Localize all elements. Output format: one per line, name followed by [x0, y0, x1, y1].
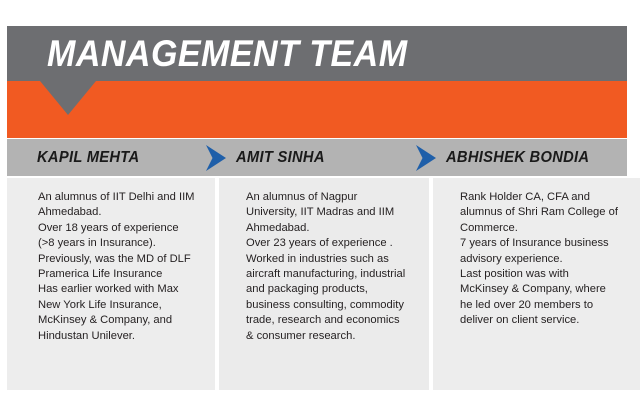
member-names-band: KAPIL MEHTA AMIT SINHA ABHISHEK BONDIA: [7, 139, 627, 176]
member-bio-text-1: An alumnus of IIT Delhi and IIMAhmedabad…: [38, 190, 205, 344]
member-bio-panel-1: An alumnus of IIT Delhi and IIMAhmedabad…: [7, 178, 215, 390]
member-name-label-1: KAPIL MEHTA: [37, 149, 139, 167]
bio-line: he led over 20 members to: [460, 298, 630, 313]
bio-line: Over 18 years of experience: [38, 221, 205, 236]
member-bio-panel-3: Rank Holder CA, CFA andalumnus of Shri R…: [433, 178, 640, 390]
page-title: MANAGEMENT TEAM: [47, 30, 408, 78]
bio-line: & consumer research.: [246, 329, 419, 344]
bio-line: Ahmedabad.: [246, 221, 419, 236]
bio-line: alumnus of Shri Ram College of: [460, 205, 630, 220]
bio-line: University, IIT Madras and IIM: [246, 205, 419, 220]
member-name-label-3: ABHISHEK BONDIA: [446, 149, 589, 167]
member-name-label-2: AMIT SINHA: [236, 149, 325, 167]
bio-line: Rank Holder CA, CFA and: [460, 190, 630, 205]
member-bio-text-2: An alumnus of NagpurUniversity, IIT Madr…: [246, 190, 419, 344]
bio-line: Over 23 years of experience .: [246, 236, 419, 251]
bio-line: An alumnus of Nagpur: [246, 190, 419, 205]
management-team-slide: MANAGEMENT TEAM KAPIL MEHTA AMIT SINHA A…: [0, 0, 640, 412]
bio-line: aircraft manufacturing, industrial: [246, 267, 419, 282]
bio-line: 7 years of Insurance business: [460, 236, 630, 251]
bio-line: Last position was with: [460, 267, 630, 282]
slide-header: MANAGEMENT TEAM: [7, 26, 627, 138]
bio-line: McKinsey & Company, and: [38, 313, 205, 328]
bio-line: trade, research and economics: [246, 313, 419, 328]
bio-line: (>8 years in Insurance).: [38, 236, 205, 251]
bio-line: Ahmedabad.: [38, 205, 205, 220]
member-bio-panel-2: An alumnus of NagpurUniversity, IIT Madr…: [219, 178, 429, 390]
member-bio-panels: An alumnus of IIT Delhi and IIMAhmedabad…: [7, 178, 640, 390]
bio-line: Previously, was the MD of DLF: [38, 252, 205, 267]
bio-line: Worked in industries such as: [246, 252, 419, 267]
member-name-cell-3: ABHISHEK BONDIA: [415, 139, 597, 176]
member-name-cell-2: AMIT SINHA: [205, 139, 329, 176]
bio-line: Pramerica Life Insurance: [38, 267, 205, 282]
bio-line: deliver on client service.: [460, 313, 630, 328]
chevron-right-icon: [415, 144, 437, 172]
header-notch-triangle: [40, 81, 96, 115]
orange-accent-bar: [7, 81, 627, 138]
chevron-right-icon: [205, 144, 227, 172]
bio-line: Hindustan Unilever.: [38, 329, 205, 344]
bio-line: McKinsey & Company, where: [460, 282, 630, 297]
bio-line: Has earlier worked with Max: [38, 282, 205, 297]
bio-line: and packaging products,: [246, 282, 419, 297]
bio-line: business consulting, commodity: [246, 298, 419, 313]
member-bio-text-3: Rank Holder CA, CFA andalumnus of Shri R…: [460, 190, 630, 329]
bio-line: Commerce.: [460, 221, 630, 236]
bio-line: advisory experience.: [460, 252, 630, 267]
member-name-cell-1: KAPIL MEHTA: [37, 139, 145, 176]
bio-line: An alumnus of IIT Delhi and IIM: [38, 190, 205, 205]
bio-line: New York Life Insurance,: [38, 298, 205, 313]
